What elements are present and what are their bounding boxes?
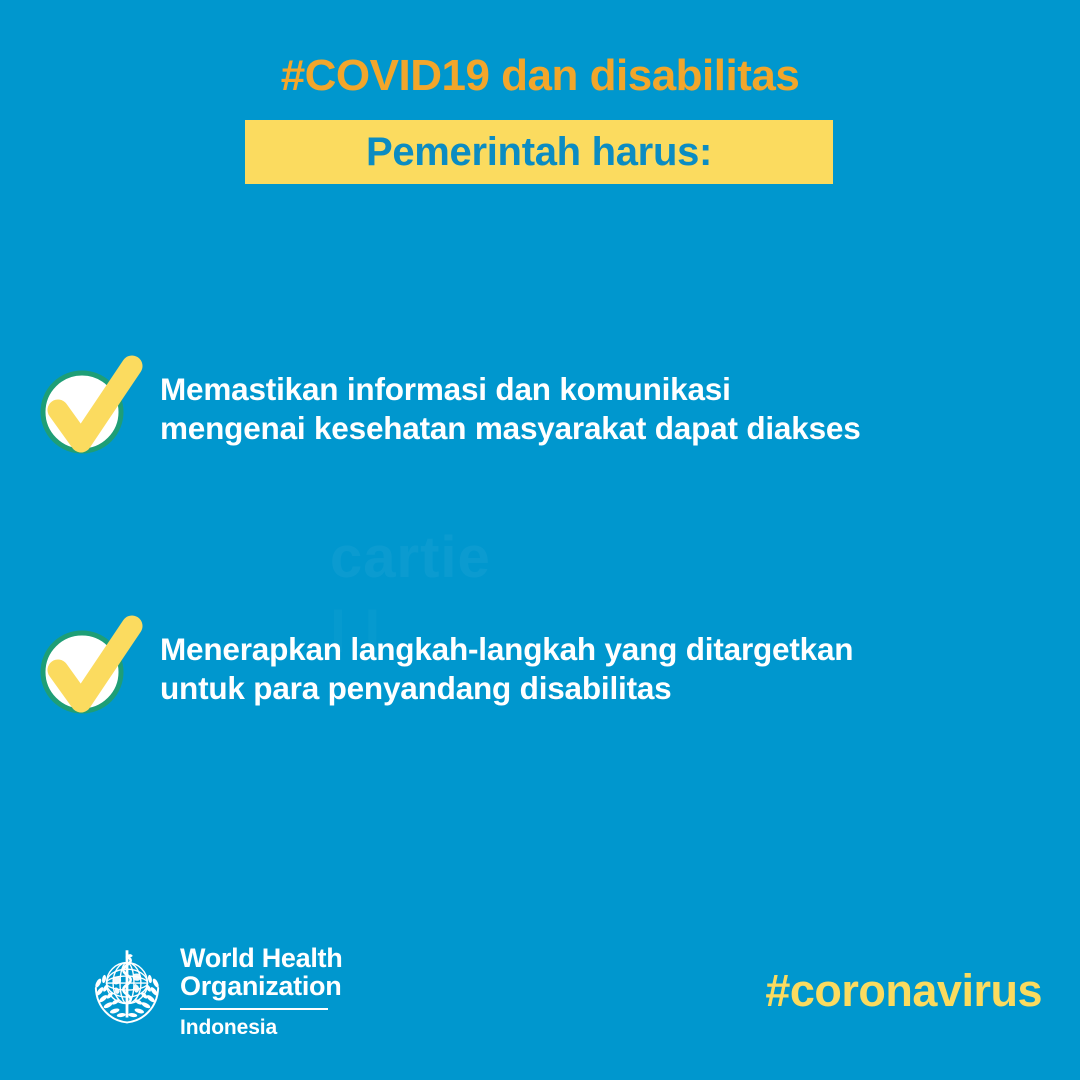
list-item: Menerapkan langkah-langkah yang ditarget… (0, 618, 1080, 722)
list-item-line: Memastikan informasi dan komunikasi (160, 370, 861, 409)
list-item-text: Menerapkan langkah-langkah yang ditarget… (160, 630, 853, 708)
ghost-line-1: cartie (330, 525, 491, 590)
check-circle-icon (36, 358, 140, 462)
poster-canvas: #COVID19 dan disabilitas Pemerintah haru… (0, 0, 1080, 1080)
who-divider (180, 1008, 328, 1010)
who-wordmark: World Health Organization Indonesia (180, 944, 342, 1040)
who-name-line-2: Organization (180, 972, 342, 1000)
who-emblem-icon (86, 947, 168, 1029)
list-item-line: untuk para penyandang disabilitas (160, 669, 853, 708)
list-item-line: mengenai kesehatan masyarakat dapat diak… (160, 409, 861, 448)
hashtag-coronavirus: #coronavirus (765, 965, 1042, 1017)
check-circle-icon (36, 618, 140, 722)
list-item-text: Memastikan informasi dan komunikasi meng… (160, 370, 861, 448)
who-logo: World Health Organization Indonesia (86, 944, 342, 1040)
subhead-label: Pemerintah harus: (245, 120, 833, 184)
list-item-line: Menerapkan langkah-langkah yang ditarget… (160, 630, 853, 669)
page-title: #COVID19 dan disabilitas (0, 54, 1080, 98)
who-name-line-1: World Health (180, 944, 342, 972)
list-item: Memastikan informasi dan komunikasi meng… (0, 358, 1080, 462)
who-country-label: Indonesia (180, 1016, 342, 1040)
